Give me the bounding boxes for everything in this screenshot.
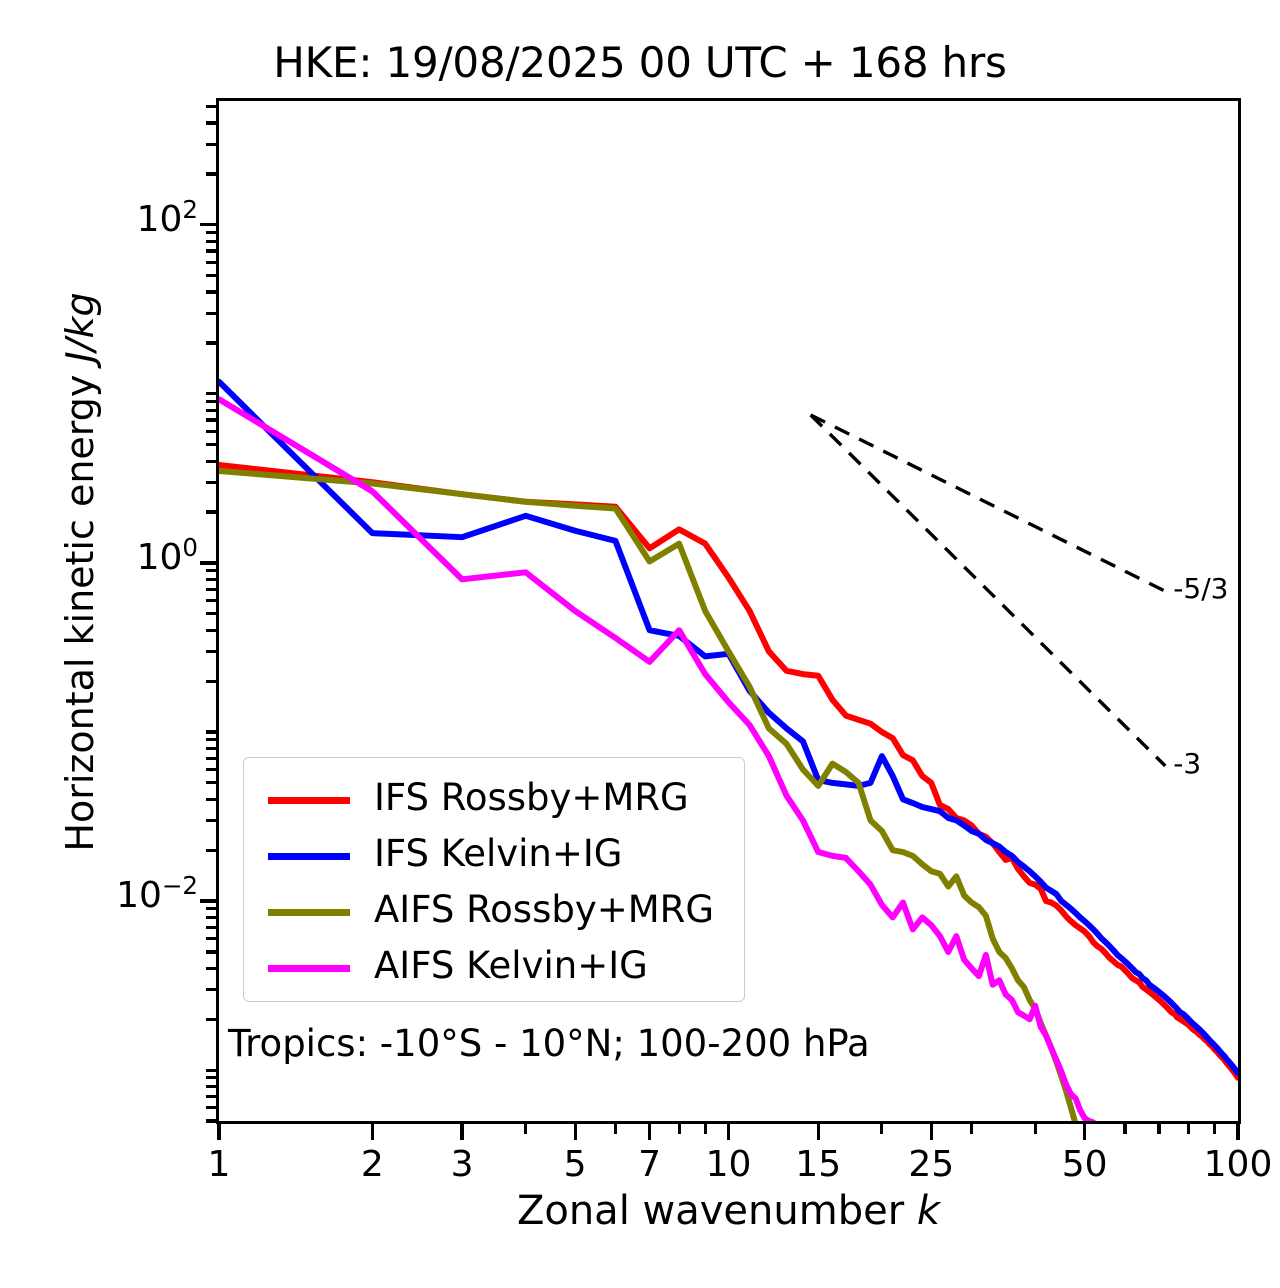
x-tick-label: 1 — [159, 1144, 279, 1185]
x-minor-tick — [1034, 1124, 1037, 1134]
y-minor-tick — [206, 680, 216, 683]
x-major-tick — [371, 1124, 374, 1140]
y-minor-tick — [206, 798, 216, 801]
y-minor-tick — [206, 599, 216, 602]
y-minor-tick — [206, 481, 216, 484]
y-minor-tick — [206, 261, 216, 264]
y-minor-tick — [206, 629, 216, 632]
y-axis-label-text: Horizontal kinetic energy — [58, 363, 102, 852]
y-minor-tick — [206, 819, 216, 822]
y-minor-tick — [206, 231, 216, 234]
reference-slope-lines — [811, 415, 1166, 766]
legend-color-swatch — [268, 853, 350, 860]
y-minor-tick — [206, 409, 216, 412]
y-tick-exponent: 0 — [182, 533, 198, 562]
y-minor-tick — [206, 1119, 216, 1122]
y-minor-tick — [206, 937, 216, 940]
y-minor-tick — [206, 172, 216, 175]
y-minor-tick — [206, 249, 216, 252]
y-minor-tick — [206, 312, 216, 315]
y-minor-tick — [206, 1069, 216, 1072]
x-major-tick — [1083, 1124, 1086, 1140]
slope-label-three: -3 — [1173, 747, 1201, 780]
x-axis-label: Zonal wavenumber k — [216, 1188, 1241, 1234]
y-minor-tick — [206, 418, 216, 421]
y-minor-tick — [206, 400, 216, 403]
y-minor-tick — [206, 341, 216, 344]
y-minor-tick — [206, 1106, 216, 1109]
y-minor-tick — [206, 967, 216, 970]
y-minor-tick — [206, 443, 216, 446]
legend-color-swatch — [268, 797, 350, 804]
legend-label: IFS Kelvin+IG — [374, 832, 622, 875]
y-tick-mantissa: 10 — [137, 199, 183, 240]
x-major-tick — [727, 1124, 730, 1140]
x-minor-tick — [880, 1124, 883, 1134]
x-tick-label: 3 — [402, 1144, 522, 1185]
y-tick-label: 10−2 — [60, 875, 198, 916]
y-minor-tick — [206, 274, 216, 277]
x-minor-tick — [970, 1124, 973, 1134]
page-title: HKE: 19/08/2025 00 UTC + 168 hrs — [0, 38, 1280, 87]
y-minor-tick — [206, 569, 216, 572]
x-minor-tick — [1213, 1124, 1216, 1134]
y-minor-tick — [206, 988, 216, 991]
x-tick-label: 15 — [758, 1144, 878, 1185]
y-minor-tick — [206, 430, 216, 433]
x-minor-tick — [1123, 1124, 1126, 1134]
x-minor-tick — [678, 1124, 681, 1134]
y-minor-tick — [206, 757, 216, 760]
x-minor-tick — [524, 1124, 527, 1134]
y-minor-tick — [206, 121, 216, 124]
legend-label: IFS Rossby+MRG — [374, 776, 689, 819]
y-tick-mantissa: 10 — [116, 875, 162, 916]
y-minor-tick — [206, 1095, 216, 1098]
x-major-tick — [930, 1124, 933, 1140]
x-tick-label: 100 — [1178, 1144, 1280, 1185]
y-major-tick — [200, 561, 216, 564]
y-minor-tick — [206, 240, 216, 243]
legend-color-swatch — [268, 965, 350, 972]
x-minor-tick — [704, 1124, 707, 1134]
legend-color-swatch — [268, 909, 350, 916]
legend-label: AIFS Kelvin+IG — [374, 944, 648, 987]
y-minor-tick — [206, 781, 216, 784]
y-major-tick — [200, 223, 216, 226]
y-minor-tick — [206, 950, 216, 953]
legend-label: AIFS Rossby+MRG — [374, 888, 714, 931]
y-minor-tick — [206, 768, 216, 771]
y-tick-mantissa: 10 — [137, 537, 183, 578]
reference-slope-line — [811, 415, 1166, 591]
legend-item[interactable]: AIFS Rossby+MRG — [244, 884, 744, 940]
x-axis-label-text: Zonal wavenumber — [517, 1188, 917, 1234]
y-minor-tick — [206, 650, 216, 653]
y-minor-tick — [206, 392, 216, 395]
slope-label-five-thirds: -5/3 — [1173, 572, 1228, 605]
y-minor-tick — [206, 105, 216, 108]
x-major-tick — [460, 1124, 463, 1140]
y-minor-tick — [206, 747, 216, 750]
y-minor-tick — [206, 460, 216, 463]
y-major-tick — [200, 899, 216, 902]
region-annotation: Tropics: -10°S - 10°N; 100-200 hPa — [228, 1022, 870, 1065]
y-minor-tick — [206, 578, 216, 581]
y-minor-tick — [206, 907, 216, 910]
y-minor-tick — [206, 730, 216, 733]
y-minor-tick — [206, 510, 216, 513]
data-series-group — [219, 382, 1238, 1121]
y-axis-label-unit: J/kg — [58, 292, 102, 362]
x-minor-tick — [1187, 1124, 1190, 1134]
x-major-tick — [574, 1124, 577, 1140]
x-tick-label: 25 — [871, 1144, 991, 1185]
legend-item[interactable]: AIFS Kelvin+IG — [244, 940, 744, 996]
y-minor-tick — [206, 1085, 216, 1088]
x-axis-label-symbol: k — [917, 1188, 940, 1234]
y-minor-tick — [206, 588, 216, 591]
y-minor-tick — [206, 926, 216, 929]
figure-root: HKE: 19/08/2025 00 UTC + 168 hrs Horizon… — [0, 0, 1280, 1288]
y-tick-exponent: 2 — [182, 195, 198, 224]
y-minor-tick — [206, 738, 216, 741]
x-tick-label: 50 — [1025, 1144, 1145, 1185]
y-minor-tick — [206, 612, 216, 615]
x-minor-tick — [614, 1124, 617, 1134]
legend-item[interactable]: IFS Kelvin+IG — [244, 828, 744, 884]
y-minor-tick — [206, 290, 216, 293]
x-major-tick — [1236, 1124, 1239, 1140]
y-tick-label: 102 — [60, 199, 198, 240]
x-major-tick — [817, 1124, 820, 1140]
legend-item[interactable]: IFS Rossby+MRG — [244, 772, 744, 828]
reference-slope-line — [811, 415, 1166, 766]
legend: IFS Rossby+MRGIFS Kelvin+IGAIFS Rossby+M… — [243, 757, 745, 1002]
x-major-tick — [217, 1124, 220, 1140]
y-minor-tick — [206, 1076, 216, 1079]
x-major-tick — [648, 1124, 651, 1140]
x-minor-tick — [1157, 1124, 1160, 1134]
y-minor-tick — [206, 1018, 216, 1021]
y-tick-exponent: −2 — [162, 871, 198, 900]
y-minor-tick — [206, 849, 216, 852]
y-minor-tick — [206, 143, 216, 146]
y-minor-tick — [206, 916, 216, 919]
y-tick-label: 100 — [60, 537, 198, 578]
